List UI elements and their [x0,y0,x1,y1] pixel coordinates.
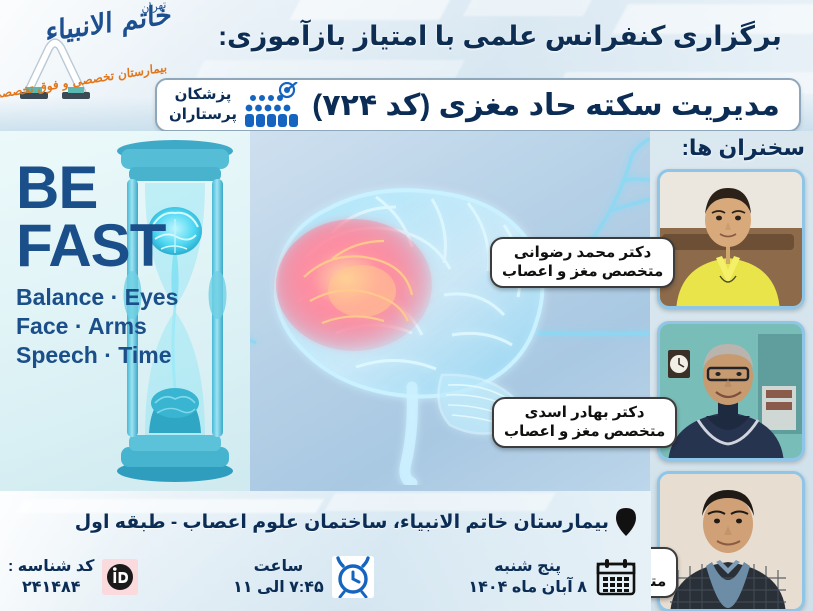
be-fast-items: Balance · Eyes Face · Arms Speech · Time [16,283,178,370]
be-fast-item-3: Speech · Time [16,341,178,370]
be-fast-line2: FAST [16,217,165,275]
date-line-1: پنج شنبه [468,556,587,577]
be-fast-heading: BE FAST [16,159,165,275]
audience-physicians: پزشکان [163,85,243,105]
speakers-column: سخنران ها: [650,131,813,611]
speaker-callout-1: دکتر محمد رضوانی متخصص مغز و اعصاب [490,237,675,288]
meta-row: پنج شنبه ۸ آبان ماه ۱۴۰۴ ساعت ۷:۴۵ الی ۱… [2,547,647,607]
logo-calligraphy: خاتم الانبیاء [45,0,171,48]
be-fast-item-2: Face · Arms [16,312,178,341]
speaker-photo-3[interactable] [657,471,805,611]
date-item: پنج شنبه ۸ آبان ماه ۱۴۰۴ [468,556,637,598]
audience-nurses: پرستاران [163,105,243,125]
conference-poster: تهران خاتم الانبیاء بیمارستان تخصصی و فو… [0,0,813,611]
speaker-photo-yellow-shirt [657,172,802,309]
speaker-photo-2[interactable] [657,321,805,461]
header-decor-panel [289,0,460,20]
speaker-name-1: دکتر محمد رضوانی [502,243,663,262]
conference-title: مدیریت سکته حاد مغزی (کد ۷۲۴) [303,88,799,123]
orcid-id-icon [102,559,138,595]
header-decor-panel [463,0,597,16]
speaker-photo-glasses-navy [657,324,802,461]
poster-header: تهران خاتم الانبیاء بیمارستان تخصصی و فو… [0,0,813,131]
speaker-photo-1[interactable] [657,169,805,309]
speaker-specialty-2: متخصص مغز و اعصاب [504,422,665,441]
speaker-specialty-1: متخصص مغز و اعصاب [502,262,663,281]
alarm-clock-icon [332,556,374,598]
be-fast-panel: BE FAST Balance · Eyes Face · Arms Speec… [0,131,250,491]
title-plaque: مدیریت سکته حاد مغزی (کد ۷۲۴) [155,78,801,131]
date-text: پنج شنبه ۸ آبان ماه ۱۴۰۴ [468,556,587,598]
time-text: ساعت ۷:۴۵ الی ۱۱ [233,556,324,598]
venue-text: بیمارستان خاتم الانبیاء، ساختمان علوم اع… [75,511,609,534]
code-item: کد شناسه : ۲۴۱۴۸۴ [8,556,138,598]
audience-labels: پزشکان پرستاران [157,85,243,125]
time-item: ساعت ۷:۴۵ الی ۱۱ [233,556,374,598]
calendar-icon [595,557,637,597]
code-line-1: کد شناسه : [8,556,94,577]
header-decor-panel [195,60,465,78]
speaker-photo-plaid-jacket [657,474,802,611]
page-title: برگزاری کنفرانس علمی با امتیاز بازآموزی: [205,18,795,54]
speaker-callout-2: دکتر بهادر اسدی متخصص مغز و اعصاب [492,397,677,448]
time-line-1: ساعت [233,556,324,577]
venue-row: بیمارستان خاتم الانبیاء، ساختمان علوم اع… [8,501,643,543]
code-line-2: ۲۴۱۴۸۴ [8,577,94,598]
audience-target-icon [243,82,303,128]
code-text: کد شناسه : ۲۴۱۴۸۴ [8,556,94,598]
date-line-2: ۸ آبان ماه ۱۴۰۴ [468,577,587,598]
speakers-label: سخنران ها: [682,135,805,161]
be-fast-line1: BE [16,159,165,217]
time-line-2: ۷:۴۵ الی ۱۱ [233,577,324,598]
be-fast-item-1: Balance · Eyes [16,283,178,312]
speaker-name-2: دکتر بهادر اسدی [504,403,665,422]
location-pin-icon [609,505,643,539]
poster-footer: بیمارستان خاتم الانبیاء، ساختمان علوم اع… [0,491,651,611]
